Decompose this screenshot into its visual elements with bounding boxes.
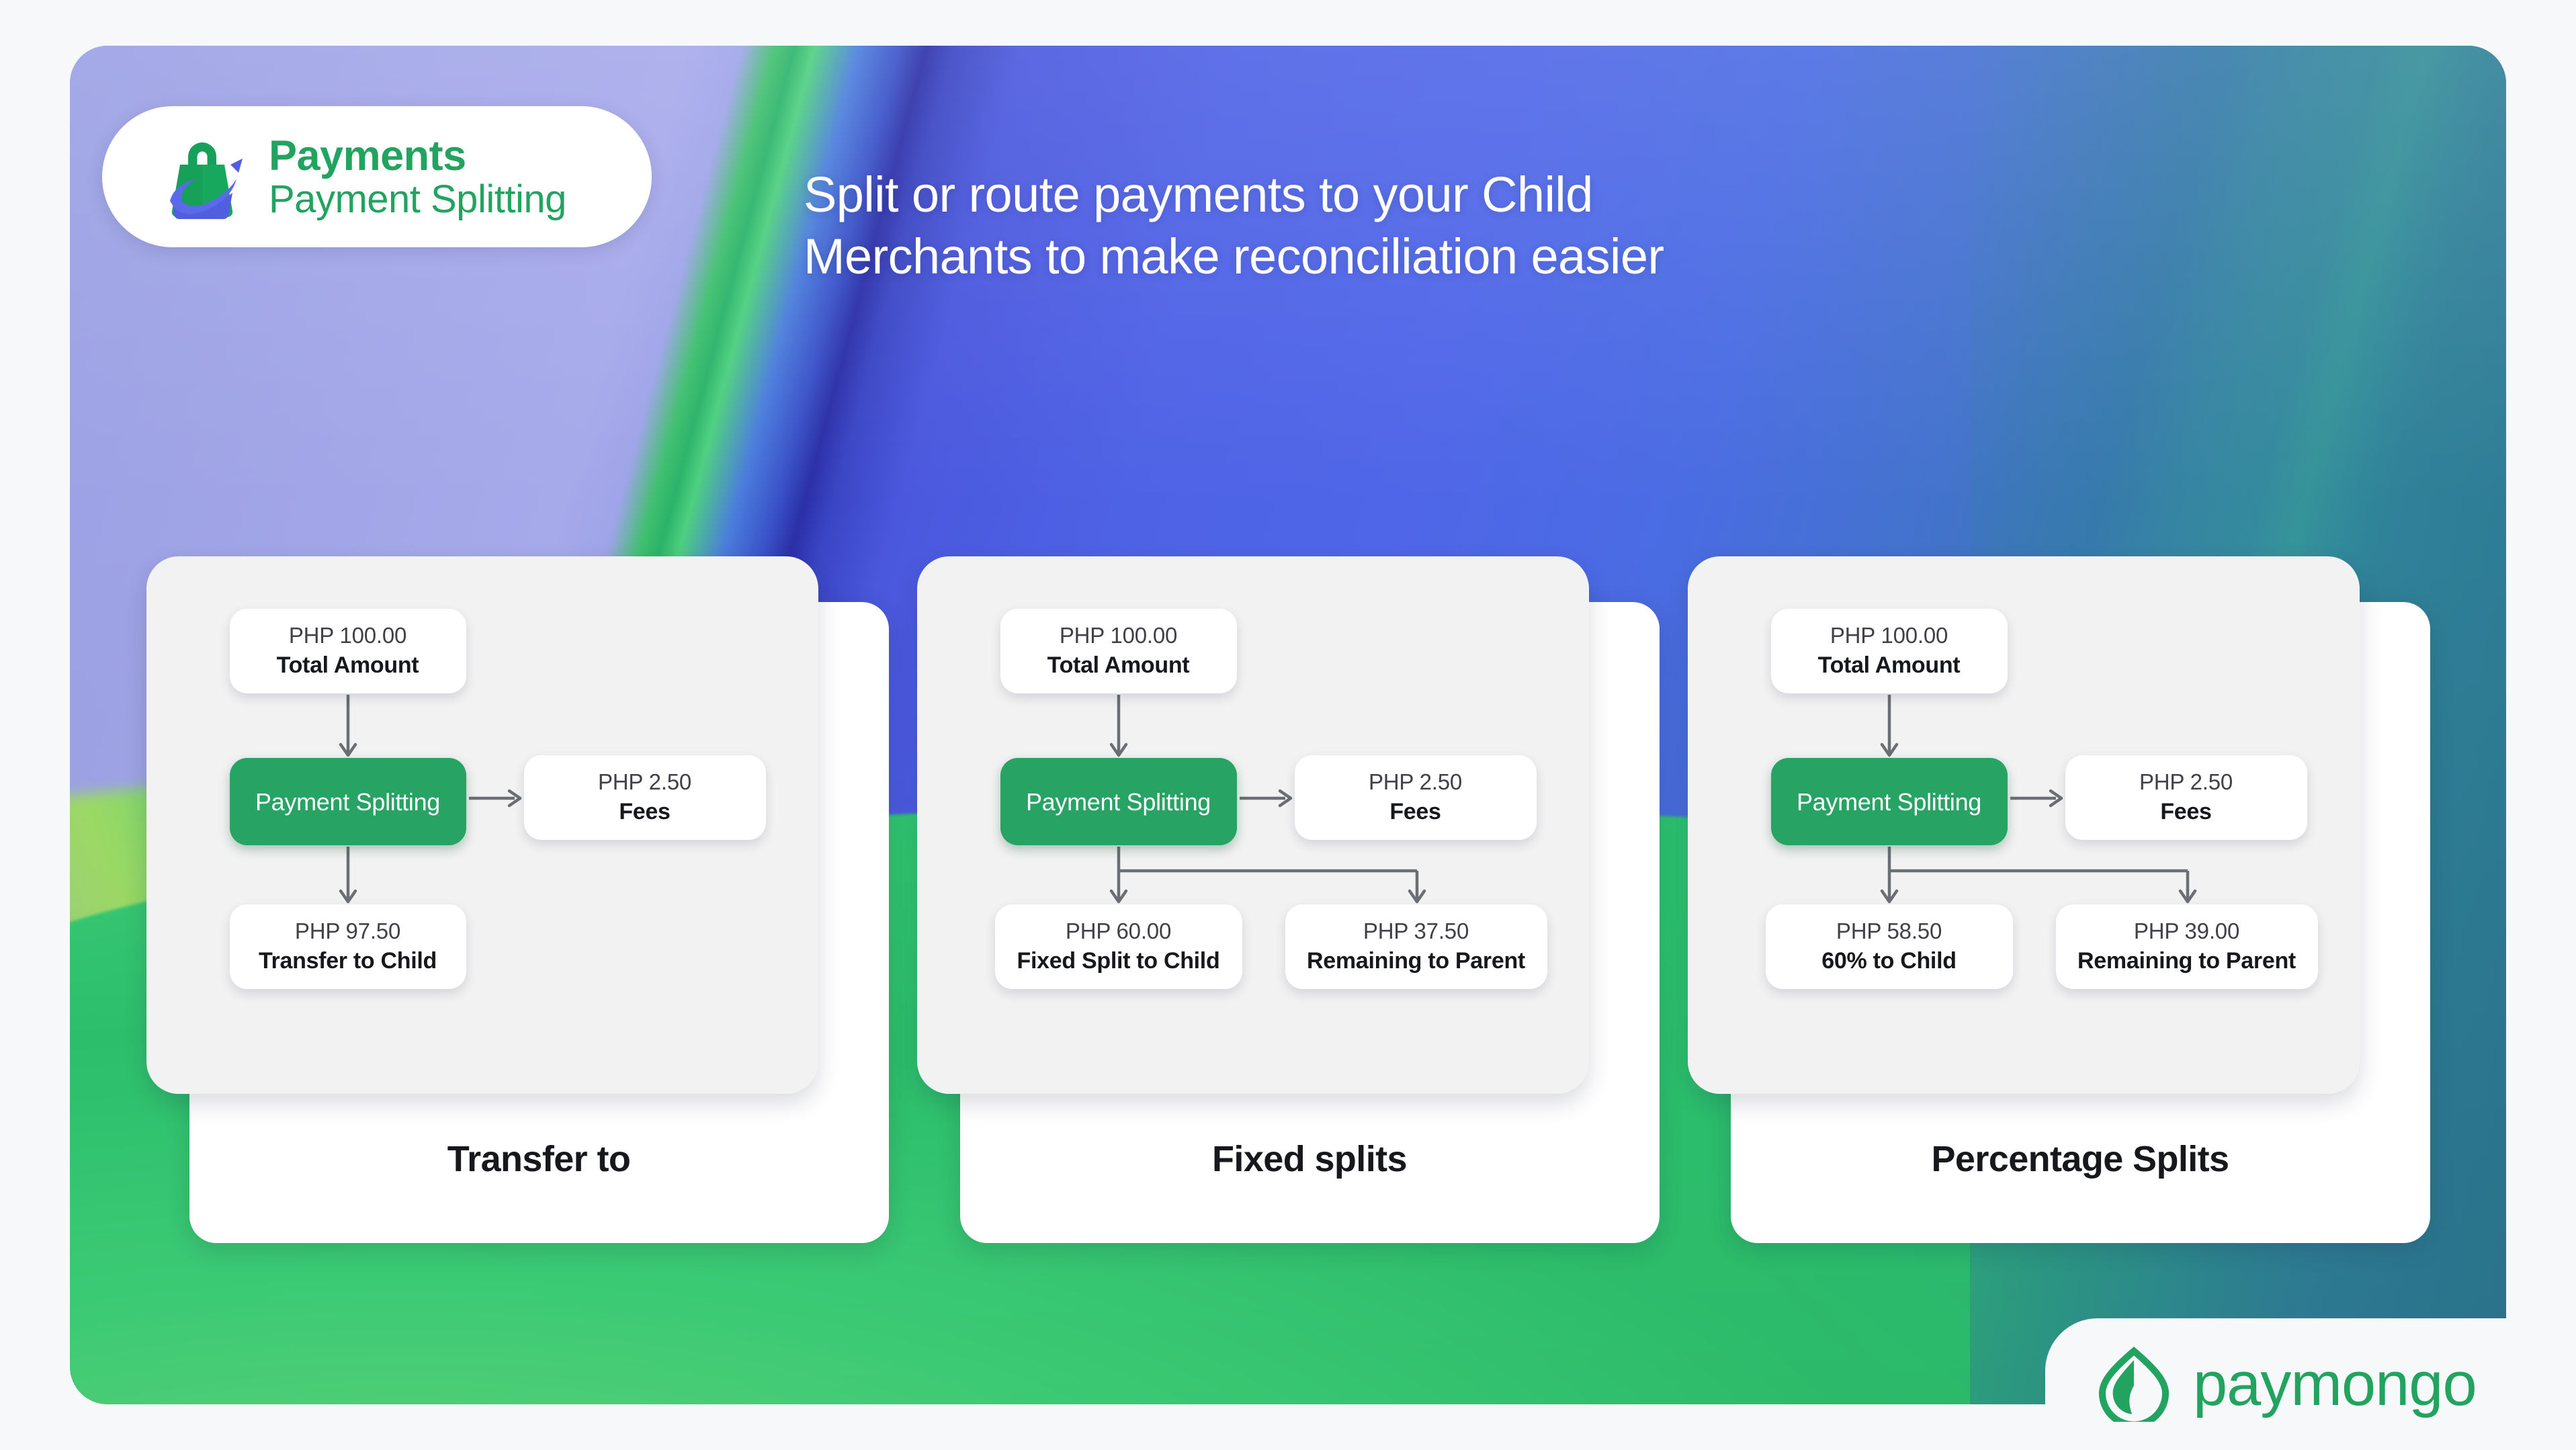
paymongo-wordmark: paymongo	[2193, 1353, 2477, 1415]
headline-line-1: Split or route payments to your Child	[804, 164, 1785, 226]
node-total-amount: PHP 100.00Total Amount	[1000, 609, 1237, 693]
brand-pill: Payments Payment Splitting	[102, 106, 652, 247]
node-payment-splitting: Payment Splitting	[1000, 758, 1237, 845]
node-payment-splitting: Payment Splitting	[230, 758, 466, 845]
header: Payments Payment Splitting Split or rout…	[70, 46, 2506, 328]
brand-title: Payments	[269, 134, 566, 179]
card-title: Transfer to	[189, 1138, 889, 1180]
node-child-share-label: Transfer to Child	[259, 947, 437, 975]
node-fees-label: Fees	[2160, 798, 2211, 826]
node-fees-amount: PHP 2.50	[1369, 769, 1462, 796]
node-parent-share: PHP 39.00Remaining to Parent	[2056, 904, 2318, 989]
node-fees-label: Fees	[1389, 798, 1441, 826]
node-child-share-label: Fixed Split to Child	[1017, 947, 1220, 975]
node-fees: PHP 2.50Fees	[2065, 755, 2307, 840]
card-title: Fixed splits	[960, 1138, 1660, 1180]
node-total-amount-amount: PHP 100.00	[1060, 622, 1177, 650]
node-child-share: PHP 97.50Transfer to Child	[230, 904, 466, 989]
split-type-card: PHP 100.00Total AmountPayment SplittingP…	[917, 556, 1660, 1243]
brand-subtitle: Payment Splitting	[269, 179, 566, 220]
node-parent-share-amount: PHP 37.50	[1363, 918, 1469, 945]
diagram-panel: PHP 100.00Total AmountPayment SplittingP…	[146, 556, 818, 1094]
node-fees-label: Fees	[619, 798, 670, 826]
paymongo-leaf-icon	[2096, 1347, 2172, 1422]
card-title: Percentage Splits	[1731, 1138, 2430, 1180]
node-payment-splitting-label: Payment Splitting	[1026, 787, 1211, 818]
headline-line-2: Merchants to make reconciliation easier	[804, 226, 1785, 288]
node-child-share: PHP 60.00Fixed Split to Child	[995, 904, 1242, 989]
node-total-amount-label: Total Amount	[277, 651, 419, 679]
node-fees: PHP 2.50Fees	[1295, 755, 1537, 840]
node-child-share: PHP 58.5060% to Child	[1766, 904, 2013, 989]
node-total-amount-label: Total Amount	[1818, 651, 1961, 679]
node-parent-share-label: Remaining to Parent	[2077, 947, 2296, 975]
node-child-share-amount: PHP 58.50	[1836, 918, 1942, 945]
node-total-amount-amount: PHP 100.00	[289, 622, 406, 650]
cards-row: PHP 100.00Total AmountPayment SplittingP…	[70, 556, 2506, 1243]
shopping-bag-icon	[152, 126, 253, 227]
node-fees: PHP 2.50Fees	[524, 755, 766, 840]
diagram-panel: PHP 100.00Total AmountPayment SplittingP…	[917, 556, 1589, 1094]
split-type-card: PHP 100.00Total AmountPayment SplittingP…	[1688, 556, 2430, 1243]
node-child-share-amount: PHP 60.00	[1066, 918, 1171, 945]
node-child-share-amount: PHP 97.50	[295, 918, 400, 945]
node-parent-share-label: Remaining to Parent	[1307, 947, 1525, 975]
node-fees-amount: PHP 2.50	[2139, 769, 2233, 796]
diagram-panel: PHP 100.00Total AmountPayment SplittingP…	[1688, 556, 2360, 1094]
node-fees-amount: PHP 2.50	[598, 769, 691, 796]
paymongo-logo: paymongo	[2045, 1318, 2576, 1450]
node-payment-splitting-label: Payment Splitting	[1797, 787, 1981, 818]
node-child-share-label: 60% to Child	[1821, 947, 1956, 975]
node-total-amount: PHP 100.00Total Amount	[1771, 609, 2008, 693]
node-total-amount: PHP 100.00Total Amount	[230, 609, 466, 693]
hero-panel: Payments Payment Splitting Split or rout…	[70, 46, 2506, 1404]
node-payment-splitting-label: Payment Splitting	[255, 787, 440, 818]
node-total-amount-label: Total Amount	[1047, 651, 1190, 679]
node-parent-share-amount: PHP 39.00	[2134, 918, 2239, 945]
node-payment-splitting: Payment Splitting	[1771, 758, 2008, 845]
split-type-card: PHP 100.00Total AmountPayment SplittingP…	[146, 556, 889, 1243]
headline: Split or route payments to your Child Me…	[804, 164, 1785, 288]
node-parent-share: PHP 37.50Remaining to Parent	[1285, 904, 1547, 989]
node-total-amount-amount: PHP 100.00	[1830, 622, 1948, 650]
